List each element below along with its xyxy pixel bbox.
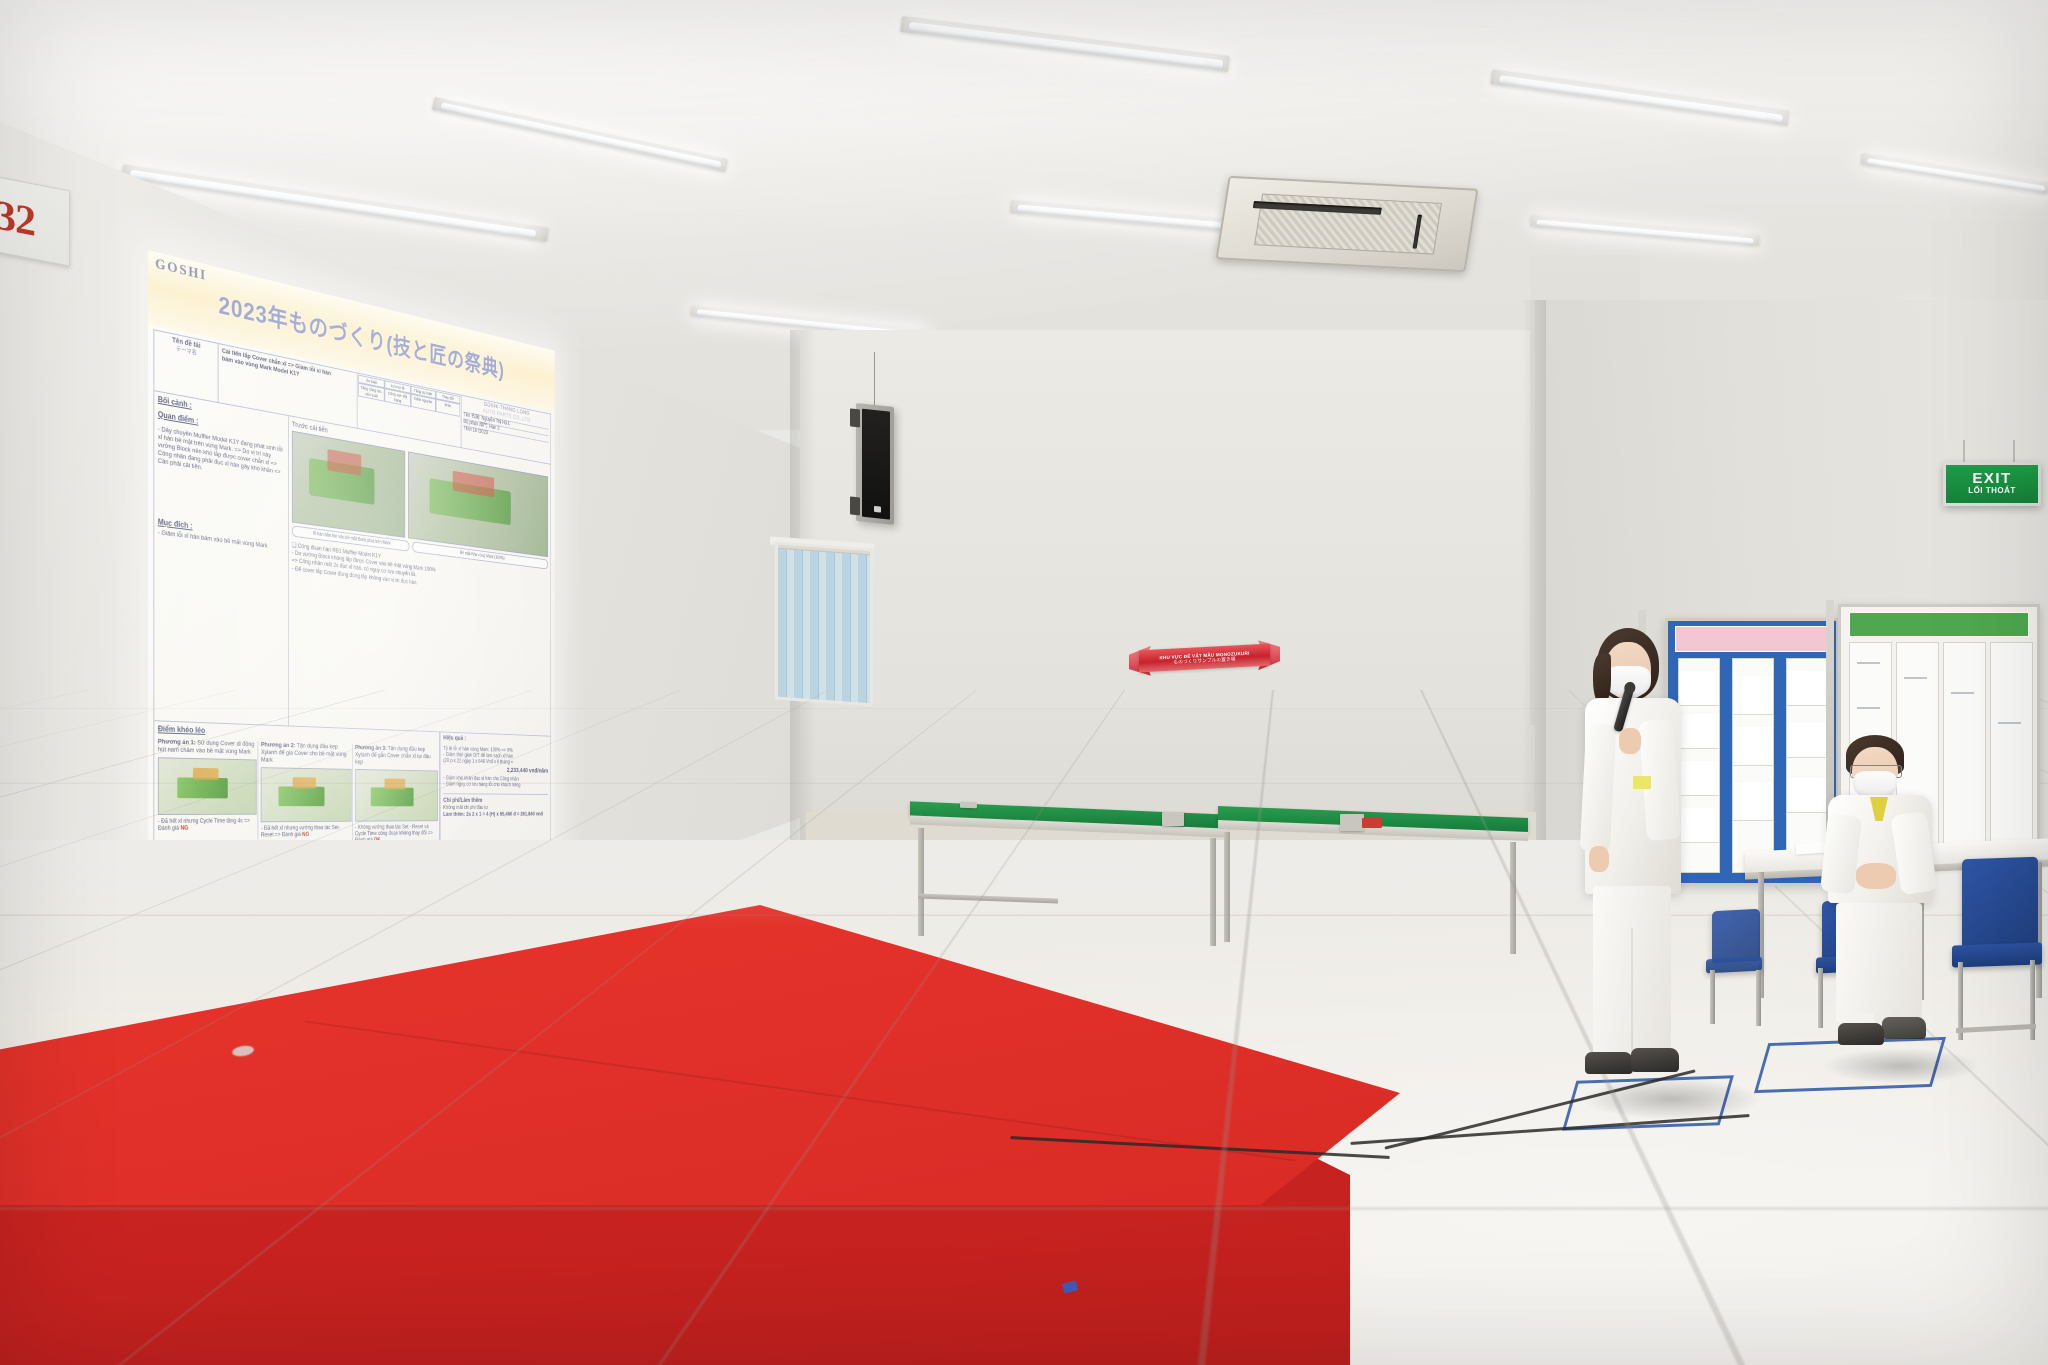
topic-label-cell: Tên đề tài テーマ名	[154, 330, 218, 402]
speaker-grille	[862, 409, 890, 520]
judge-shoe-left	[1838, 1023, 1884, 1045]
board-cell	[1733, 676, 1773, 715]
presenter	[1575, 628, 1695, 1098]
chair-2-seat[interactable]	[1952, 942, 2042, 967]
board-cell	[1733, 782, 1773, 821]
exit-sign-rod-left	[1963, 440, 1965, 462]
board-white-header	[1849, 612, 2029, 637]
board-tick	[1998, 722, 2022, 724]
chair-3-leg-r	[1756, 970, 1761, 1026]
before-photo-main	[292, 431, 405, 538]
display-table-2-leg-r	[1510, 842, 1516, 954]
board-tick	[1951, 692, 1975, 694]
presenter-hand-mic	[1619, 728, 1641, 754]
board-cell	[1787, 723, 1827, 758]
sample-part-2	[1162, 812, 1184, 826]
speaker-bracket-bottom	[850, 496, 860, 515]
exit-label-en: EXIT	[1972, 471, 2011, 486]
exit-sign: EXIT LỐI THOÁT	[1943, 462, 2041, 506]
display-table-1-leg-l	[918, 828, 924, 936]
board-tick	[1857, 707, 1881, 709]
judge-trousers	[1836, 903, 1922, 1023]
presenter-trouser-split	[1631, 928, 1633, 1058]
banner-body: KHU VỰC ĐỂ VẬT MẪU MONOZUKURI ものづくりサンプルの…	[1139, 644, 1270, 673]
vertical-blinds[interactable]	[778, 545, 870, 703]
display-table-2-leg-l	[1224, 832, 1230, 942]
photo-scene: 32 GOSHI 2023年ものづくり(技と匠の祭典) Tên đề tài テ…	[0, 0, 2048, 1365]
sample-part-1	[960, 802, 977, 809]
before-cell: Trước cải tiến Xỉ hàn bắn tóe vào bề mặt…	[289, 416, 551, 736]
display-table-1-brace	[918, 894, 1058, 904]
room-number-sign: 32	[0, 175, 70, 266]
speaker-wire	[874, 352, 875, 408]
date-label: Thời	[463, 427, 471, 434]
board-cell	[1787, 671, 1827, 706]
seated-judge	[1822, 735, 1962, 1065]
presenter-shoe-right	[1631, 1048, 1679, 1072]
display-table-1-leg-r	[1210, 838, 1216, 946]
exit-label-vi: LỐI THOÁT	[1968, 486, 2016, 496]
window	[775, 542, 873, 707]
board-blue-col-2	[1732, 658, 1774, 873]
sample-tag	[1362, 818, 1382, 828]
room-number-text: 32	[0, 191, 35, 247]
exit-sign-rod-right	[2013, 440, 2015, 462]
presenter-name-badge	[1633, 776, 1651, 789]
dept-value: Hàn 2	[489, 425, 499, 432]
speaker-bracket-top	[850, 408, 860, 427]
board-blue-header	[1675, 626, 1830, 652]
ceiling-ac-unit	[1216, 176, 1479, 273]
presenter-shoe-left	[1585, 1052, 1633, 1074]
chair-2-back[interactable]	[1962, 857, 2038, 950]
chair-3-leg-l	[1710, 970, 1715, 1024]
board-tick	[1904, 677, 1928, 679]
chair-3-back[interactable]	[1712, 909, 1760, 964]
board-cell	[1733, 727, 1773, 766]
judge-shoe-right	[1882, 1017, 1926, 1039]
board-white-col-4	[1990, 642, 2033, 847]
board-tick	[1857, 662, 1881, 664]
context-cell: Bối cảnh : Quan điểm : - Dây chuyền Muff…	[154, 391, 288, 725]
wall-speaker	[856, 403, 894, 525]
board-cell	[1787, 778, 1827, 813]
presenter-hand-low	[1589, 846, 1609, 872]
judge-hands-clasped	[1856, 863, 1896, 889]
sample-part-3	[1340, 814, 1364, 831]
